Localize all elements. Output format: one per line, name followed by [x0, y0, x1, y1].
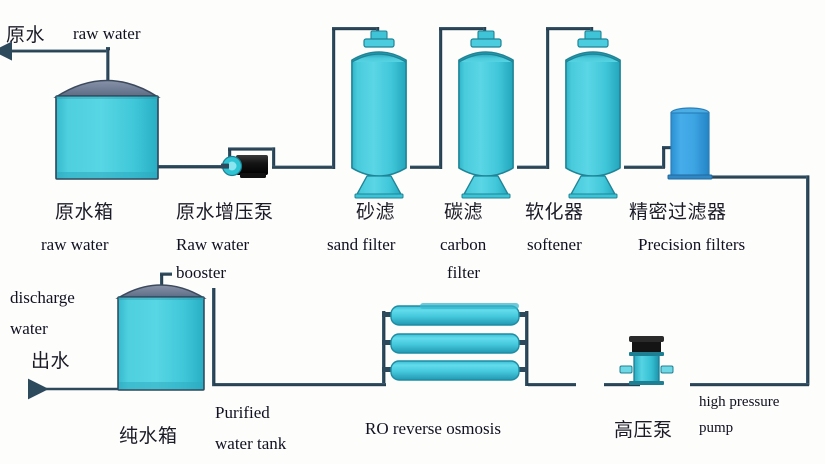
raw-tank-to-booster-pipe	[158, 165, 222, 168]
ro-reverse-osmosis-unit[interactable]	[382, 303, 527, 380]
high-pressure-pump[interactable]	[620, 336, 673, 385]
sand-filter-label-en: sand filter	[327, 235, 395, 255]
hp-pump-label-en-2: pump	[699, 420, 733, 438]
carbon-filter-label-en-1: carbon	[440, 235, 486, 255]
carbon-filter-vessel[interactable]	[459, 31, 513, 198]
raw-water-booster-pump[interactable]	[221, 155, 268, 178]
pure-water-tank-label-en-2: water tank	[215, 434, 286, 454]
carbon-filter-label-en-2: filter	[447, 263, 480, 283]
ro-to-pure-tank-pipe	[212, 288, 386, 386]
ro-unit-label-en: RO reverse osmosis	[365, 419, 501, 439]
precision-filter[interactable]	[668, 108, 712, 179]
pure-water-tank-label-cn: 纯水箱	[119, 425, 178, 447]
raw-water-top-pipe	[12, 50, 109, 84]
carbon-filter-label-cn: 碳滤	[444, 201, 483, 223]
discharge-water-label-cn: 出水	[31, 350, 70, 372]
pure-water-tank[interactable]	[118, 285, 204, 390]
discharge-water-label-en-2: water	[10, 319, 48, 339]
softener-vessel[interactable]	[566, 31, 620, 198]
raw-water-tank-label-cn: 原水箱	[55, 201, 114, 223]
softener-label-en: softener	[527, 235, 582, 255]
precision-filter-label-en: Precision filters	[638, 235, 745, 255]
sand-filter-vessel[interactable]	[352, 31, 406, 198]
raw-water-tank-label-en: raw water	[41, 235, 109, 255]
raw-water-inlet-label-en: raw water	[73, 24, 141, 44]
booster-pump-label-en-2: booster	[176, 263, 226, 283]
hp-pump-label-en-1: high pressure	[699, 394, 779, 412]
hp-pump-label-cn: 高压泵	[614, 419, 673, 441]
raw-water-inlet-label-cn: 原水	[6, 24, 45, 46]
sand-filter-label-cn: 砂滤	[356, 201, 395, 223]
process-flow-diagram: 原水 raw water 原水箱 raw water 原水增压泵 Raw wat…	[0, 0, 825, 464]
precision-filter-label-cn: 精密过滤器	[629, 201, 727, 223]
booster-pump-label-cn: 原水增压泵	[176, 201, 274, 223]
hp-pump-to-ro-pipe	[525, 311, 640, 386]
raw-water-tank[interactable]	[56, 81, 158, 180]
booster-pump-label-en-1: Raw water	[176, 235, 249, 255]
softener-label-cn: 软化器	[525, 201, 584, 223]
pure-water-tank-label-en-1: Purified	[215, 403, 270, 423]
discharge-water-label-en-1: discharge	[10, 288, 75, 308]
